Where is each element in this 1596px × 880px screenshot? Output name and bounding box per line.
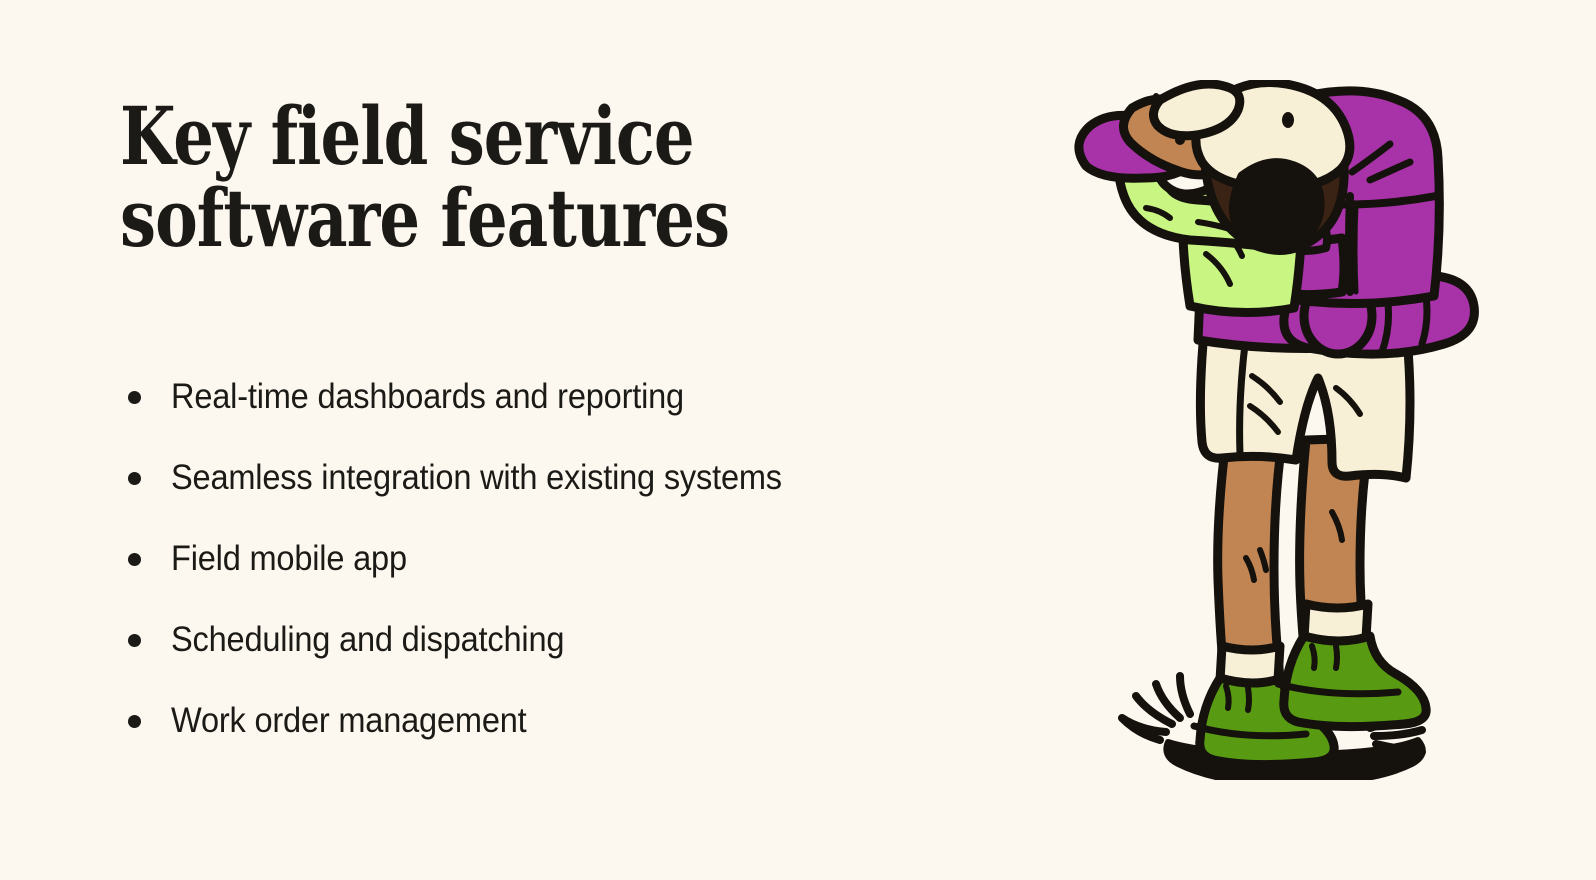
leg-back [1218,440,1282,678]
bullet-icon [128,715,141,728]
list-item: Real-time dashboards and reporting [128,378,1068,459]
bullet-icon [128,634,141,647]
list-item: Field mobile app [128,540,1068,621]
hiker-illustration [1040,80,1490,780]
feature-list: Real-time dashboards and reporting Seaml… [128,378,1068,783]
list-item-label: Scheduling and dispatching [171,621,564,659]
slide-canvas: Key field service software features Real… [0,0,1596,880]
beard [1233,163,1320,246]
bullet-icon [128,553,141,566]
page-title: Key field service software features [120,96,1040,259]
list-item: Scheduling and dispatching [128,621,1068,702]
list-item-label: Work order management [171,702,527,740]
bullet-icon [128,391,141,404]
bullet-icon [128,472,141,485]
list-item: Seamless integration with existing syste… [128,459,1068,540]
list-item: Work order management [128,702,1068,783]
list-item-label: Seamless integration with existing syste… [171,459,782,497]
list-item-label: Field mobile app [171,540,407,578]
list-item-label: Real-time dashboards and reporting [171,378,684,416]
text-column: Key field service software features [120,96,1040,259]
